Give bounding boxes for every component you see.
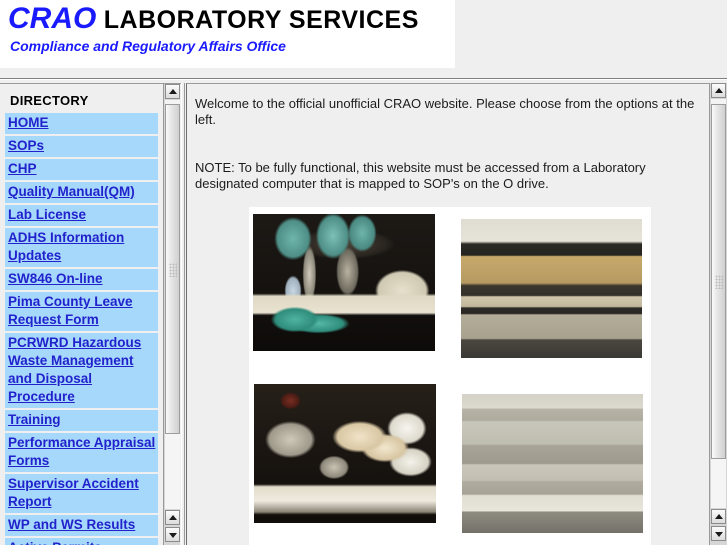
scrollbar-thumb[interactable] [711,104,726,459]
scroll-down-arrow-icon[interactable] [165,527,180,542]
sidebar-item-label[interactable]: Performance Appraisal Forms [8,435,155,468]
scrollbar-track-lower[interactable] [165,434,180,509]
window-scrollbar[interactable] [709,83,727,545]
sidebar-item-label[interactable]: PCRWRD Hazardous Waste Management and Di… [8,335,141,404]
photo-gallery [249,207,651,545]
sidebar-item-label[interactable]: CHP [8,161,37,176]
title-rest: LABORATORY SERVICES [96,6,419,34]
sidebar-item-adhs-information-updates[interactable]: ADHS Information Updates [5,228,158,267]
sidebar-item-label[interactable]: SW846 On-line [8,271,103,286]
main-content-frame: Welcome to the official unofficial CRAO … [186,83,709,545]
sidebar-item-lab-license[interactable]: Lab License [5,205,158,226]
lab-photo-extraction-apparatus [254,384,436,523]
note-paragraph: NOTE: To be fully functional, this websi… [195,160,695,192]
page-banner: CRAO LABORATORY SERVICES Compliance and … [0,0,727,80]
sidebar-item-label[interactable]: Lab License [8,207,86,222]
sidebar-item-label[interactable]: Active Permits [8,540,102,545]
scrollbar-track-lower[interactable] [711,459,726,508]
scroll-up-arrow-icon-bottom[interactable] [165,510,180,525]
frame-divider[interactable] [181,83,185,545]
scroll-up-arrow-icon-bottom[interactable] [711,509,726,524]
welcome-paragraph: Welcome to the official unofficial CRAO … [195,96,695,128]
directory-heading: DIRECTORY [10,93,163,108]
sidebar-item-supervisor-accident-report[interactable]: Supervisor Accident Report [5,474,158,513]
sidebar-item-performance-appraisal-forms[interactable]: Performance Appraisal Forms [5,433,158,472]
lab-photo-open-fume-hood [462,394,643,533]
directory-content: DIRECTORY HOME SOPs CHP Quality Manual(Q… [0,84,163,545]
sidebar-item-label[interactable]: SOPs [8,138,44,153]
sidebar-item-label[interactable]: HOME [8,115,49,130]
sidebar-item-home[interactable]: HOME [5,113,158,134]
sidebar-item-sw846-online[interactable]: SW846 On-line [5,269,158,290]
page-title: CRAO LABORATORY SERVICES [8,2,419,36]
sidebar-item-label[interactable]: Quality Manual(QM) [8,184,135,199]
scroll-up-arrow-icon[interactable] [711,83,726,98]
title-accent: CRAO [8,2,96,35]
sidebar-item-sops[interactable]: SOPs [5,136,158,157]
directory-frame: DIRECTORY HOME SOPs CHP Quality Manual(Q… [0,83,181,545]
scroll-up-arrow-icon[interactable] [165,84,180,99]
sidebar-item-active-permits[interactable]: Active Permits [5,538,158,545]
sidebar-item-label[interactable]: WP and WS Results [8,517,135,532]
sidebar-item-pima-county-leave-request-form[interactable]: Pima County Leave Request Form [5,292,158,331]
sidebar-item-quality-manual[interactable]: Quality Manual(QM) [5,182,158,203]
scrollbar-thumb[interactable] [165,104,180,434]
sidebar-item-label[interactable]: ADHS Information Updates [8,230,124,263]
sidebar-item-label[interactable]: Training [8,412,61,427]
banner-white-panel: CRAO LABORATORY SERVICES Compliance and … [0,0,455,68]
frameset-top-divider [0,78,727,80]
sidebar-item-training[interactable]: Training [5,410,158,431]
sidebar-item-pcrwrd-hazardous-waste-procedure[interactable]: PCRWRD Hazardous Waste Management and Di… [5,333,158,408]
lab-photo-bench [253,214,435,351]
banner-subtitle: Compliance and Regulatory Affairs Office [10,38,286,54]
lab-photo-fume-hood-row [461,219,642,358]
directory-list: HOME SOPs CHP Quality Manual(QM) Lab Lic… [0,113,163,545]
directory-scrollbar[interactable] [163,84,180,545]
sidebar-item-label[interactable]: Supervisor Accident Report [8,476,139,509]
sidebar-item-label[interactable]: Pima County Leave Request Form [8,294,133,327]
sidebar-item-chp[interactable]: CHP [5,159,158,180]
scroll-down-arrow-icon[interactable] [711,526,726,541]
sidebar-item-wp-and-ws-results[interactable]: WP and WS Results [5,515,158,536]
frameset: DIRECTORY HOME SOPs CHP Quality Manual(Q… [0,83,727,545]
